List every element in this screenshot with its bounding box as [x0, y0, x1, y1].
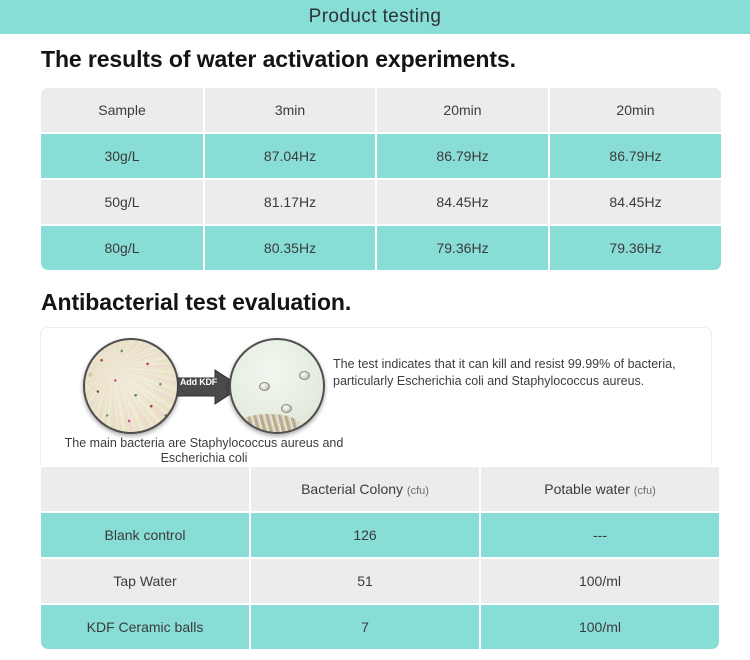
cell-sample: 50g/L	[41, 180, 203, 224]
petri-dish-caption: The main bacteria are Staphylococcus aur…	[49, 436, 359, 466]
product-testing-page: Product testing The results of water act…	[0, 0, 750, 660]
antibacterial-illustration-card: Add KDF The main bacteria are Staphyloco…	[40, 327, 712, 467]
cell-sample: Blank control	[41, 513, 249, 557]
petri-dish-comparison: Add KDF The main bacteria are Staphyloco…	[79, 336, 329, 464]
cell-value: 86.79Hz	[377, 134, 548, 178]
colony-spot	[259, 382, 270, 391]
column-header-blank	[41, 467, 249, 511]
contaminated-petri-dish-icon	[83, 338, 179, 434]
colony-spot	[299, 371, 310, 380]
clean-petri-dish-icon	[229, 338, 325, 434]
cell-value: 86.79Hz	[550, 134, 721, 178]
column-header-label: Potable water	[544, 481, 630, 497]
column-header-20min-a: 20min	[377, 88, 548, 132]
cell-value: 79.36Hz	[550, 226, 721, 270]
table-header-row: Bacterial Colony (cfu) Potable water (cf…	[41, 467, 719, 511]
banner-title: Product testing	[309, 6, 442, 28]
cell-sample: Tap Water	[41, 559, 249, 603]
table-header-row: Sample 3min 20min 20min	[41, 88, 721, 132]
cell-value: 100/ml	[481, 559, 719, 603]
dish-residue	[239, 414, 299, 434]
table-row: Tap Water 51 100/ml	[41, 559, 719, 603]
water-activation-table: Sample 3min 20min 20min 30g/L 87.04Hz 86…	[39, 86, 723, 272]
cell-sample: 30g/L	[41, 134, 203, 178]
column-header-label: Bacterial Colony	[301, 481, 403, 497]
cell-value: 87.04Hz	[205, 134, 375, 178]
antibacterial-results-table: Bacterial Colony (cfu) Potable water (cf…	[39, 465, 721, 651]
antibacterial-description: The test indicates that it can kill and …	[333, 356, 701, 390]
table-row: 50g/L 81.17Hz 84.45Hz 84.45Hz	[41, 180, 721, 224]
cell-value: 7	[251, 605, 479, 649]
column-header-potable-water: Potable water (cfu)	[481, 467, 719, 511]
column-header-20min-b: 20min	[550, 88, 721, 132]
column-header-sample: Sample	[41, 88, 203, 132]
cell-value: 126	[251, 513, 479, 557]
section-heading-activation: The results of water activation experime…	[41, 46, 516, 73]
column-header-unit: (cfu)	[634, 485, 656, 497]
section-heading-antibacterial: Antibacterial test evaluation.	[41, 289, 351, 316]
page-banner: Product testing	[0, 0, 750, 34]
cell-value: 84.45Hz	[550, 180, 721, 224]
column-header-3min: 3min	[205, 88, 375, 132]
cell-value: 81.17Hz	[205, 180, 375, 224]
table-row: 30g/L 87.04Hz 86.79Hz 86.79Hz	[41, 134, 721, 178]
cell-sample: 80g/L	[41, 226, 203, 270]
cell-value: 51	[251, 559, 479, 603]
cell-sample: KDF Ceramic balls	[41, 605, 249, 649]
column-header-bacterial-colony: Bacterial Colony (cfu)	[251, 467, 479, 511]
cell-value: 80.35Hz	[205, 226, 375, 270]
cell-value: 79.36Hz	[377, 226, 548, 270]
table-row: KDF Ceramic balls 7 100/ml	[41, 605, 719, 649]
cell-value: 84.45Hz	[377, 180, 548, 224]
cell-value: ---	[481, 513, 719, 557]
colony-spot	[281, 404, 292, 413]
column-header-unit: (cfu)	[407, 485, 429, 497]
cell-value: 100/ml	[481, 605, 719, 649]
add-kdf-label: Add KDF	[177, 377, 217, 387]
table-row: Blank control 126 ---	[41, 513, 719, 557]
table-row: 80g/L 80.35Hz 79.36Hz 79.36Hz	[41, 226, 721, 270]
